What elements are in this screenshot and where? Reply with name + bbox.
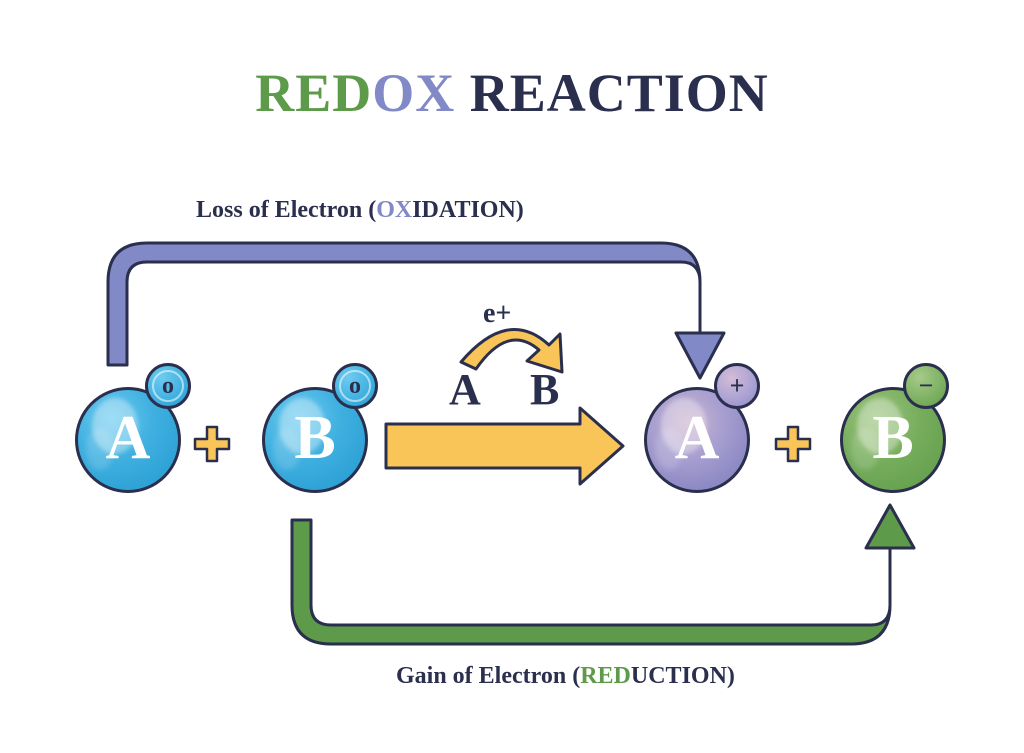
atom-a-reactant-charge-glyph: o (162, 374, 174, 398)
atom-b-reactant-charge-badge: o (332, 363, 378, 409)
diagram-canvas: REDOX REACTION Loss of Electron (OXIDATI… (0, 0, 1024, 753)
reduction-arrow (292, 505, 914, 644)
atom-a-reactant-charge-badge: o (145, 363, 191, 409)
atom-b-reactant-charge-glyph: o (349, 374, 361, 398)
electron-target-letter: B (530, 368, 559, 412)
atom-b-product-charge-glyph: − (919, 373, 934, 399)
plus-separator-products (773, 424, 813, 464)
oxidation-arrow (108, 243, 724, 378)
plus-separator-reactants (192, 424, 232, 464)
atom-a-product-charge-glyph: + (730, 373, 745, 399)
electron-source-letter: A (449, 368, 481, 412)
electron-transfer-label: e+ (483, 300, 511, 328)
reaction-arrow (386, 408, 623, 484)
atom-a-product-charge-badge: + (714, 363, 760, 409)
atom-b-product-charge-badge: − (903, 363, 949, 409)
